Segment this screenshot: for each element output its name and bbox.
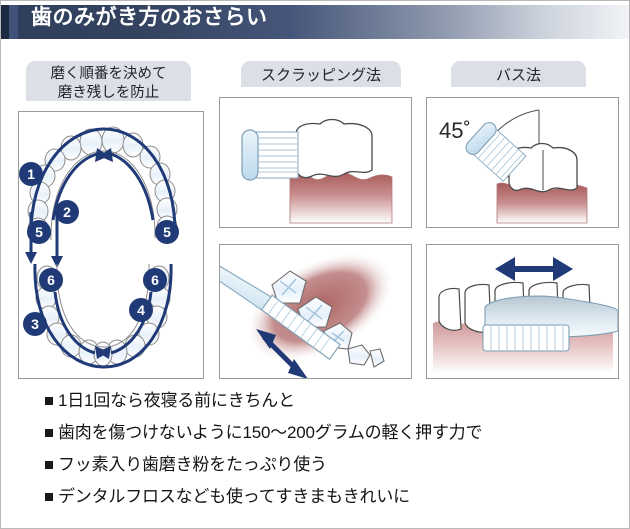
brush-head-back [242, 130, 258, 180]
angle-label: 45˚ [439, 118, 471, 143]
step-label-1: 1 [27, 166, 35, 182]
panel-header-order-line1: 磨く順番を決めて [26, 65, 191, 84]
step-circle-6-left: 6 [39, 268, 63, 292]
panel-horizontal-diagram [426, 244, 619, 379]
panel-header-order: 磨く順番を決めて 磨き残しを防止 [26, 61, 191, 101]
panel-bass-diagram: 45˚ [426, 97, 619, 228]
tip-text: 1日1回なら夜寝る前にきちんと [58, 391, 295, 411]
panel-header-bass: バス法 [451, 61, 586, 87]
brush-handle [220, 257, 271, 312]
panel-order-diagram: 1 2 5 5 3 [18, 111, 204, 379]
panel-scrubbing-diagram [219, 97, 412, 228]
dental-arch-order-svg: 1 2 5 5 3 [19, 112, 203, 378]
toothbrush [242, 130, 298, 180]
step-circle-5-left: 5 [27, 220, 51, 244]
panel-header-scrubbing-label: スクラッピング法 [261, 67, 381, 84]
title-bar-left-edge [1, 5, 9, 39]
step-label-5-right: 5 [163, 224, 171, 240]
step-circle-6-right: 6 [143, 268, 167, 292]
tip-text: 歯肉を傷つけないように150〜200グラムの軽く押す力で [58, 423, 482, 443]
step-label-6-left: 6 [47, 272, 55, 288]
step-circle-4: 4 [129, 298, 153, 322]
infographic-root: 歯のみがき方のおさらい 磨く順番を決めて 磨き残しを防止 [0, 0, 630, 529]
bullet-square-icon [45, 493, 53, 501]
step-circle-3: 3 [23, 312, 47, 336]
page-title: 歯のみがき方のおさらい [31, 5, 268, 31]
upper-arch-inner-outline [51, 151, 155, 240]
panel-header-scrubbing: スクラッピング法 [241, 61, 401, 87]
step-circle-5-right: 5 [155, 220, 179, 244]
gum-tissue [290, 172, 392, 223]
tips-list: 1日1回なら夜寝る前にきちんと 歯肉を傷つけないように150〜200グラムの軽く… [45, 391, 620, 519]
bass-method-svg: 45˚ [427, 98, 618, 227]
tip-text: フッ素入り歯磨き粉をたっぷり使う [58, 455, 327, 475]
occlusal-brushing-svg [220, 245, 411, 378]
bristle-block [256, 132, 298, 178]
scrubbing-method-svg [220, 98, 411, 227]
list-item: 1日1回なら夜寝る前にきちんと [45, 391, 620, 411]
panel-header-bass-label: バス法 [496, 67, 541, 84]
horizontal-double-arrow [495, 257, 573, 281]
bullet-square-icon [45, 461, 53, 469]
step-label-3: 3 [31, 316, 39, 332]
step-label-5-left: 5 [35, 224, 43, 240]
step-label-2: 2 [63, 204, 71, 220]
bristle-block [483, 325, 569, 351]
list-item: フッ素入り歯磨き粉をたっぷり使う [45, 455, 620, 475]
step-circle-1: 1 [19, 162, 43, 186]
bullet-square-icon [45, 397, 53, 405]
step-circle-2: 2 [55, 200, 79, 224]
arrowhead-right [553, 257, 573, 281]
list-item: 歯肉を傷つけないように150〜200グラムの軽く押す力で [45, 423, 620, 443]
step-label-6-right: 6 [151, 272, 159, 288]
horizontal-brushing-svg [427, 245, 618, 378]
left-connector-arrowhead-1 [25, 252, 37, 264]
tooth [296, 120, 372, 178]
arrowhead-left [495, 257, 515, 281]
tip-text: デンタルフロスなども使ってすきまもきれいに [58, 487, 410, 507]
bullet-square-icon [45, 429, 53, 437]
title-bar-left-edge-secondary [9, 5, 18, 39]
panel-header-order-line2: 磨き残しを防止 [26, 84, 191, 103]
list-item: デンタルフロスなども使ってすきまもきれいに [45, 487, 620, 507]
step-label-4: 4 [137, 302, 145, 318]
panel-occlusal-diagram [219, 244, 412, 379]
